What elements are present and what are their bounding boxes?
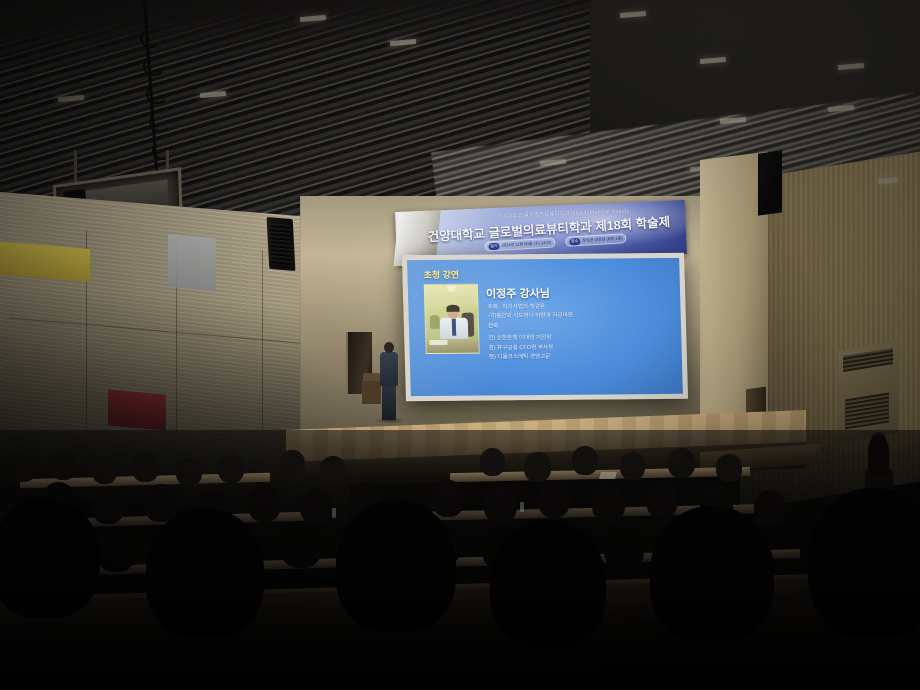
audience-head	[572, 446, 598, 475]
audience-head	[96, 528, 136, 572]
audience-head	[754, 490, 786, 526]
slide-topic-line: 전략	[488, 321, 675, 332]
water-bottle	[520, 502, 524, 512]
foreground-head	[650, 506, 774, 642]
slide-body-text: 주제 : 자기사업의 첫걸음 - 미용인의 시드머니 마련과 자금마련 전략 전…	[487, 302, 676, 363]
audience-head	[92, 456, 117, 484]
cable-coil	[143, 56, 165, 76]
aisle-person-hair	[868, 436, 889, 476]
audience-head	[300, 488, 332, 524]
water-bottle	[332, 508, 336, 518]
photo-papers	[429, 340, 447, 345]
audience-head	[132, 452, 159, 482]
audience-head	[320, 456, 346, 484]
presenter-legs	[382, 385, 396, 420]
audience-head	[92, 488, 124, 524]
audience-head	[668, 448, 695, 478]
paper-sheet	[599, 472, 617, 479]
projector-mount-pole	[74, 150, 77, 184]
presentation-slide: 초청 강연 이정주 강사님 주제 : 자기사업의 첫걸음 - 미용인의 시드머니…	[407, 258, 683, 396]
badge-key: 일시	[488, 242, 500, 250]
slide-bio-line: 현) 디올코스메틱 경영고문	[489, 352, 676, 363]
badge-value: 창의관 대강당 (B동 1층)	[582, 235, 623, 243]
audience-head	[280, 522, 322, 568]
cable-coil	[149, 112, 171, 132]
photo-person-hair	[446, 305, 459, 312]
audience-head	[280, 450, 305, 478]
photo-plant	[430, 315, 440, 329]
foreground-head	[490, 520, 606, 648]
presenter-body	[380, 352, 398, 386]
audience-head	[620, 452, 645, 480]
foreground-head	[146, 508, 264, 638]
audience-head	[480, 448, 505, 476]
presenter-head	[384, 342, 394, 353]
lecture-hall-photo: 건양대학교 글로벌의료뷰티학과 Global Medical Beauty 건양…	[0, 0, 920, 690]
right-speaker	[758, 150, 782, 215]
audience-head	[248, 484, 281, 522]
cable-coil	[152, 140, 174, 160]
foreground-head	[0, 498, 100, 618]
audience-head	[432, 480, 464, 517]
audience-head	[716, 454, 742, 482]
audience-head	[484, 486, 517, 523]
audience-head	[604, 526, 644, 571]
badge-value: 2024년 11월 00일 (수) 13:00	[501, 240, 551, 249]
foreground-head	[336, 500, 456, 632]
cable-coil	[146, 84, 168, 104]
audience-head	[538, 480, 570, 518]
audience-head	[50, 450, 77, 480]
photo-necktie	[452, 319, 456, 336]
audience-head	[176, 458, 202, 486]
badge-key: 장소	[569, 237, 581, 245]
presenter	[378, 342, 400, 420]
audience-head	[524, 452, 551, 482]
slide-speaker-name: 이정주 강사님	[486, 285, 550, 302]
projection-screen: 초청 강연 이정주 강사님 주제 : 자기사업의 첫걸음 - 미용인의 시드머니…	[402, 253, 688, 401]
audience-head	[10, 454, 36, 482]
foreground-head	[808, 488, 920, 638]
cable-coil	[140, 28, 162, 48]
audience-head	[218, 454, 244, 483]
audience-head	[646, 480, 678, 518]
audience-head	[592, 486, 625, 522]
slide-header: 초청 강연	[423, 268, 459, 281]
speaker-photo	[424, 284, 480, 354]
